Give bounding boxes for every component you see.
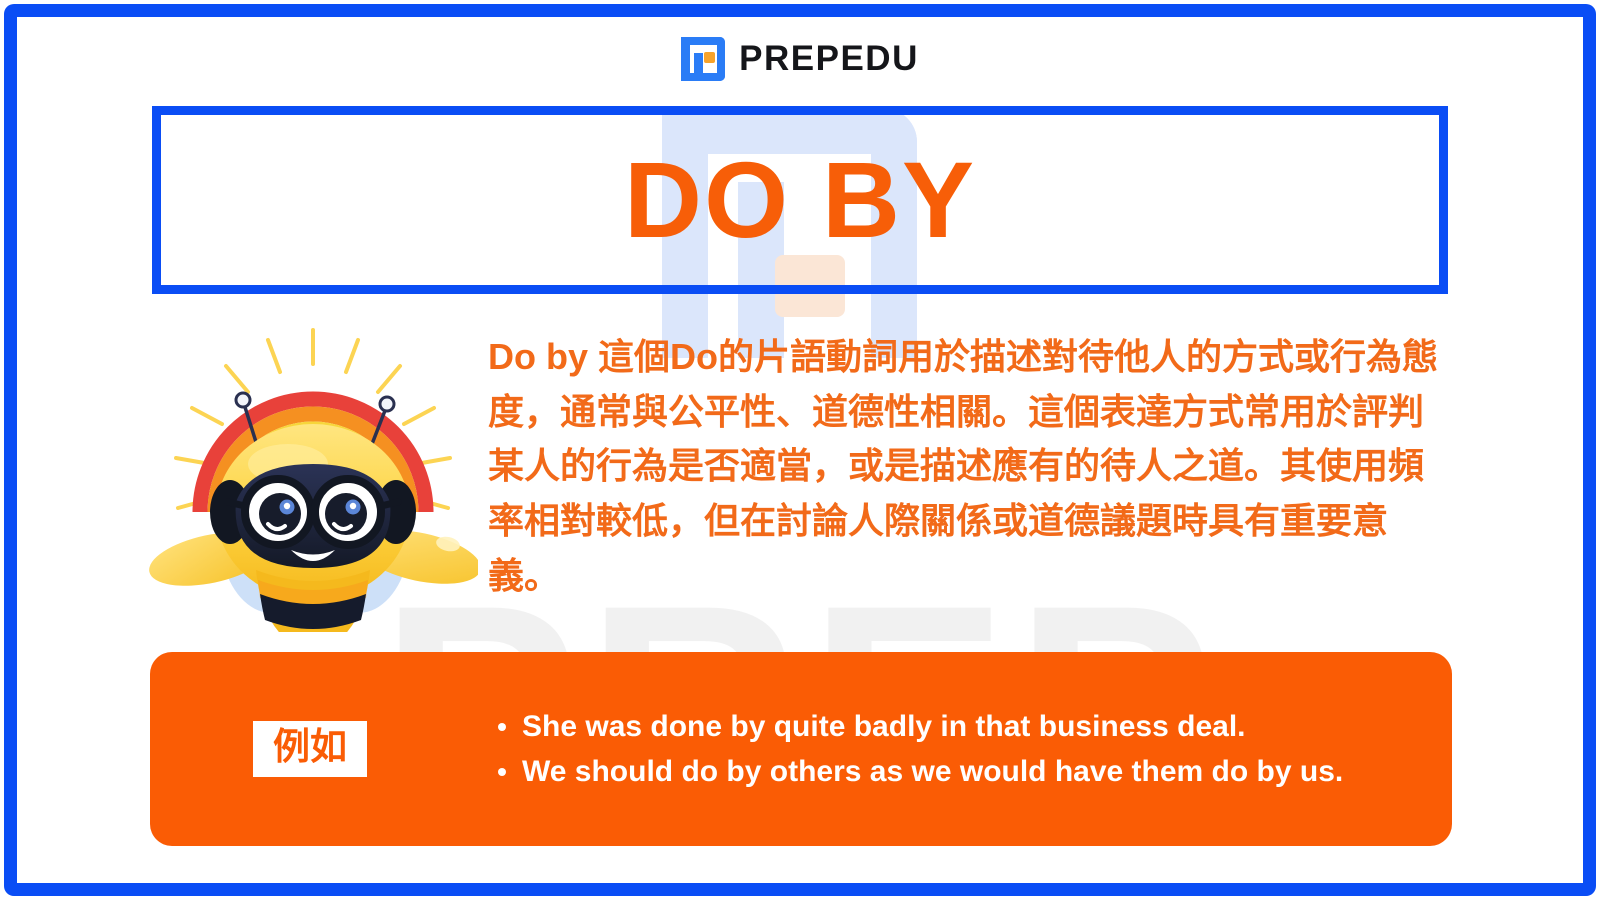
page-title: DO BY (624, 146, 976, 254)
vocab-bee-mascot-icon (148, 312, 478, 632)
brand-header: PREPEDU (0, 34, 1600, 84)
prepedu-logo-icon (681, 37, 725, 81)
examples-list: She was done by quite badly in that busi… (470, 706, 1452, 793)
title-box: DO BY (152, 106, 1448, 294)
example-item: We should do by others as we would have … (492, 751, 1412, 792)
examples-label: 例如 (253, 721, 367, 776)
brand-name: PREPEDU (739, 39, 919, 79)
examples-label-wrap: 例如 (150, 721, 470, 776)
example-item: She was done by quite badly in that busi… (492, 706, 1412, 747)
examples-panel: 例如 She was done by quite badly in that b… (150, 652, 1452, 846)
vocabulary-card: PREP PREPEDU DO BY (0, 0, 1600, 900)
definition-text: Do by 這個Do的片語動詞用於描述對待他人的方式或行為態度，通常與公平性、道… (488, 330, 1453, 604)
